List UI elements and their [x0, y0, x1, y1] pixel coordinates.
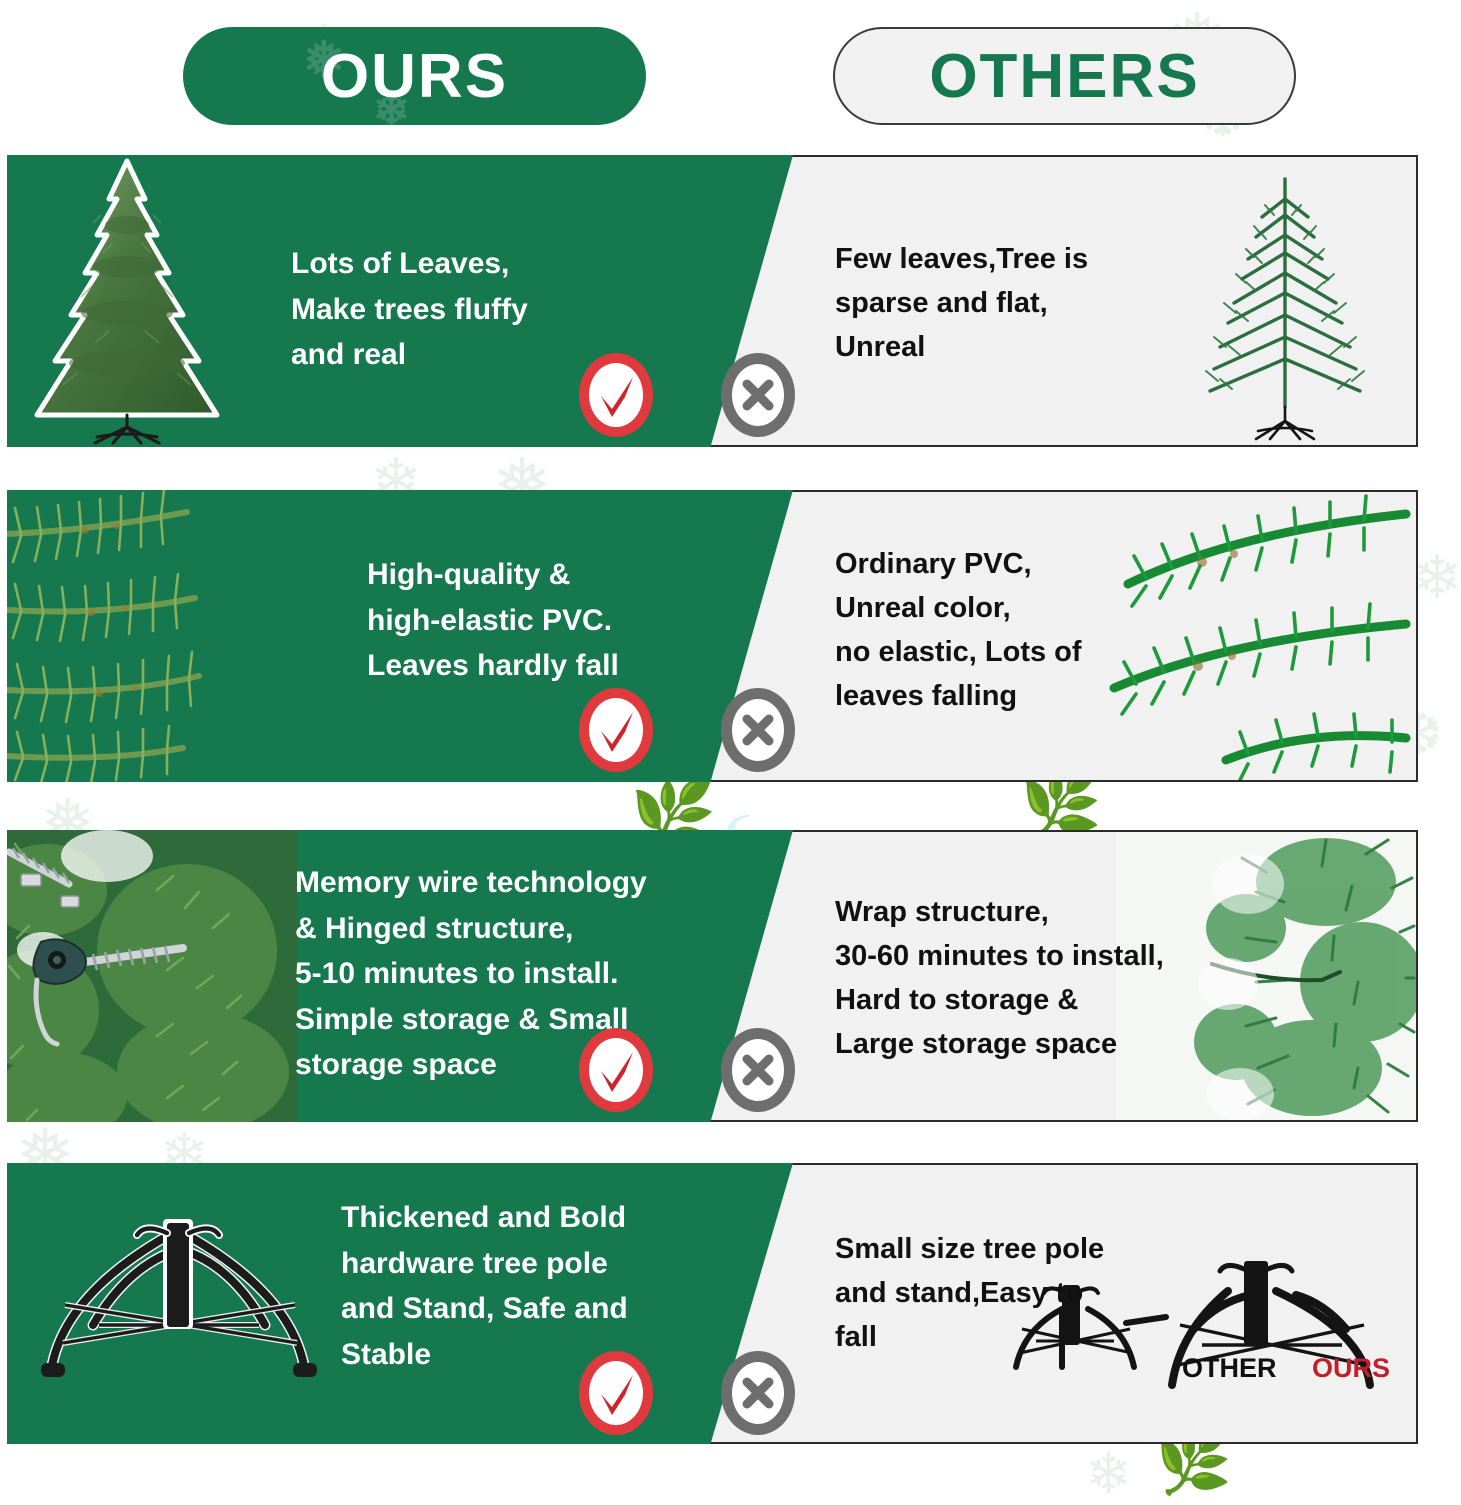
badge-ours-label: OURS	[321, 41, 508, 112]
cross-mark-icon	[719, 1026, 797, 1114]
others-text: Few leaves,Tree is sparse and flat, Unre…	[835, 237, 1088, 369]
comparison-row: Wrap structure, 30-60 minutes to install…	[7, 830, 1418, 1122]
check-mark-icon	[577, 1026, 655, 1114]
realistic-pine-branch-closeup-photo	[7, 490, 337, 782]
sparse-christmas-tree-photo	[1170, 163, 1400, 445]
ours-panel: Memory wire technology & Hinged structur…	[7, 830, 793, 1122]
cross-mark-icon	[719, 1349, 797, 1437]
badge-ours: ❅ ❄ OURS	[183, 27, 646, 125]
full-christmas-tree-dense-photo	[17, 155, 237, 447]
ours-text: Lots of Leaves, Make trees fluffy and re…	[291, 241, 528, 378]
comparison-row: Ordinary PVC, Unreal color, no elastic, …	[7, 490, 1418, 782]
check-mark-icon	[577, 1349, 655, 1437]
ordinary-pvc-branch-closeup-photo	[1106, 492, 1416, 780]
ours-panel: Thickened and Bold hardware tree pole an…	[7, 1163, 793, 1444]
comparison-row: OTHER OURS Small size tree pole and stan…	[7, 1163, 1418, 1444]
others-text: Small size tree pole and stand,Easy to f…	[835, 1227, 1104, 1359]
others-text: Ordinary PVC, Unreal color, no elastic, …	[835, 542, 1082, 718]
check-mark-icon	[577, 351, 655, 439]
comparison-row: Few leaves,Tree is sparse and flat, Unre…	[7, 155, 1418, 447]
cross-mark-icon	[719, 686, 797, 774]
ours-text: High-quality & high-elastic PVC. Leaves …	[367, 552, 619, 689]
stand-caption-ours: OURS	[1312, 1353, 1390, 1384]
cross-mark-icon	[719, 351, 797, 439]
hinged-spring-branch-mechanism-photo	[7, 830, 297, 1122]
header: ❅ ❄ OURS OTHERS	[0, 0, 1461, 150]
ours-panel: High-quality & high-elastic PVC. Leaves …	[7, 490, 793, 782]
badge-others-label: OTHERS	[929, 41, 1199, 112]
snowflake-icon: ❄	[1412, 548, 1461, 608]
check-mark-icon	[577, 686, 655, 774]
snowflake-icon: ❄	[1085, 1446, 1132, 1502]
stand-caption-other: OTHER	[1182, 1353, 1277, 1384]
ours-panel: Lots of Leaves, Make trees fluffy and re…	[7, 155, 793, 447]
badge-others: OTHERS	[833, 27, 1296, 125]
heavy-duty-metal-tree-stand-photo	[29, 1213, 329, 1403]
others-text: Wrap structure, 30-60 minutes to install…	[835, 890, 1164, 1066]
